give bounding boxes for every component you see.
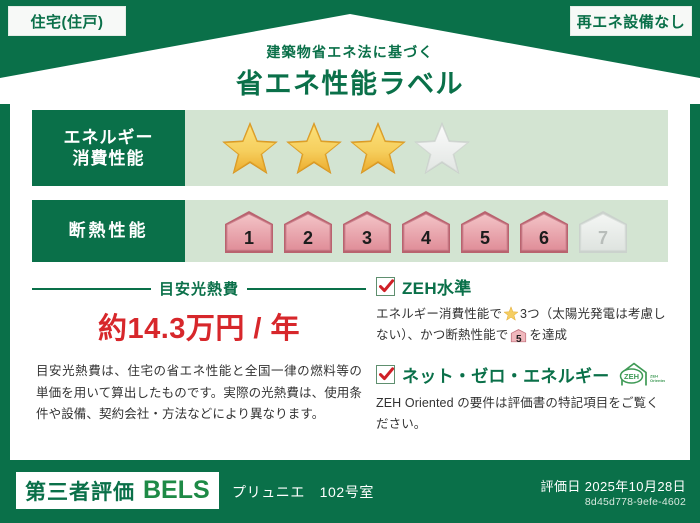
star-filled-icon <box>221 120 279 176</box>
evaluation-date: 評価日 2025年10月28日 <box>541 476 686 495</box>
insulation-level-scale: 1 2 3 <box>221 208 631 254</box>
house-level-number: 3 <box>339 228 395 249</box>
zeh-logo-icon: ZEH ZEH Oriented <box>619 360 665 388</box>
house-level-number: 1 <box>221 228 277 249</box>
star-inline-icon <box>503 306 519 321</box>
house-level-icon: 1 <box>221 208 277 254</box>
utility-cost-value: 約14.3万円 / 年 <box>32 305 366 347</box>
utility-cost-heading: 目安光熱費 <box>32 278 366 299</box>
zeh-body-part1: エネルギー消費性能で <box>376 307 502 321</box>
house-level-number: 5 <box>457 228 513 249</box>
house-level-number: 6 <box>516 228 572 249</box>
energy-performance-value <box>185 110 668 186</box>
house-level-icon: 5 <box>457 208 513 254</box>
utility-cost-note: 目安光熱費は、住宅の省エネ性能と全国一律の燃料等の単価を用いて算出したものです。… <box>32 361 366 426</box>
evaluation-id: 8d45d778-9efe-4602 <box>585 496 686 508</box>
bels-badge-en: BELS <box>143 476 210 505</box>
building-name: プリュニエ 102号室 <box>232 482 374 502</box>
rule-left <box>32 288 151 290</box>
house-level-icon: 4 <box>398 208 454 254</box>
house-level-icon: 3 <box>339 208 395 254</box>
house-inline-number: 5 <box>510 332 527 349</box>
zeh-standard-body: エネルギー消費性能で3つ（太陽光発電は考慮しない）、かつ断熱性能で5を達成 <box>376 304 668 350</box>
net-zero-energy-body: ZEH Oriented の要件は評価書の特記項目をご覧ください。 <box>376 393 668 435</box>
svg-text:ZEH: ZEH <box>624 372 639 381</box>
net-zero-energy-block: ネット・ゼロ・エネルギー ZEH ZEH Oriented ZEH Orient… <box>376 360 668 435</box>
insulation-performance-value: 1 2 3 <box>185 200 668 262</box>
footer-band: 第三者評価 BELS プリュニエ 102号室 評価日 2025年10月28日 8… <box>0 460 700 523</box>
house-level-number: 4 <box>398 228 454 249</box>
bels-badge-jp: 第三者評価 <box>25 476 135 506</box>
house-level-number: 2 <box>280 228 336 249</box>
star-empty-icon <box>413 120 471 176</box>
energy-performance-row: エネルギー 消費性能 <box>32 110 668 186</box>
star-filled-icon <box>349 120 407 176</box>
net-zero-energy-title: ネット・ゼロ・エネルギー <box>402 362 610 387</box>
zeh-standard-block: ZEH水準 エネルギー消費性能で3つ（太陽光発電は考慮しない）、かつ断熱性能で5… <box>376 274 668 350</box>
label-card: エネルギー 消費性能 <box>10 96 690 460</box>
net-zero-energy-heading: ネット・ゼロ・エネルギー ZEH ZEH Oriented <box>376 360 668 388</box>
house-level-icon: 2 <box>280 208 336 254</box>
insulation-performance-row: 断熱性能 1 <box>32 200 668 262</box>
tag-dwelling-type: 住宅(住戸) <box>8 6 126 36</box>
zeh-standard-title: ZEH水準 <box>402 274 472 299</box>
rule-right <box>247 288 366 290</box>
insulation-performance-label-box: 断熱性能 <box>32 200 185 262</box>
zeh-column: ZEH水準 エネルギー消費性能で3つ（太陽光発電は考慮しない）、かつ断熱性能で5… <box>366 274 668 450</box>
energy-label-line1: エネルギー <box>64 127 154 148</box>
house-level-icon-inactive: 7 <box>575 208 631 254</box>
checkbox-checked-icon <box>376 365 395 384</box>
lower-section: 目安光熱費 約14.3万円 / 年 目安光熱費は、住宅の省エネ性能と全国一律の燃… <box>32 274 668 450</box>
zeh-body-part2: を達成 <box>529 328 567 342</box>
energy-performance-label: 住宅(住戸) 再エネ設備なし 建築物省エネ法に基づく 省エネ性能ラベル エネルギ… <box>0 0 700 523</box>
star-filled-icon <box>285 120 343 176</box>
tag-renewable-equipment: 再エネ設備なし <box>570 6 692 36</box>
house-inline-icon: 5 <box>510 328 527 350</box>
bels-badge: 第三者評価 BELS <box>16 472 219 509</box>
house-level-number: 7 <box>575 228 631 249</box>
star-rating <box>221 120 471 176</box>
utility-cost-heading-text: 目安光熱費 <box>159 278 239 299</box>
zeh-standard-heading: ZEH水準 <box>376 274 668 299</box>
utility-cost-column: 目安光熱費 約14.3万円 / 年 目安光熱費は、住宅の省エネ性能と全国一律の燃… <box>32 274 366 450</box>
energy-label-line2: 消費性能 <box>73 148 145 169</box>
svg-text:Oriented: Oriented <box>650 378 665 383</box>
house-level-icon: 6 <box>516 208 572 254</box>
checkbox-checked-icon <box>376 277 395 296</box>
label-subtitle: 建築物省エネ法に基づく <box>0 42 700 62</box>
energy-performance-label-box: エネルギー 消費性能 <box>32 110 185 186</box>
